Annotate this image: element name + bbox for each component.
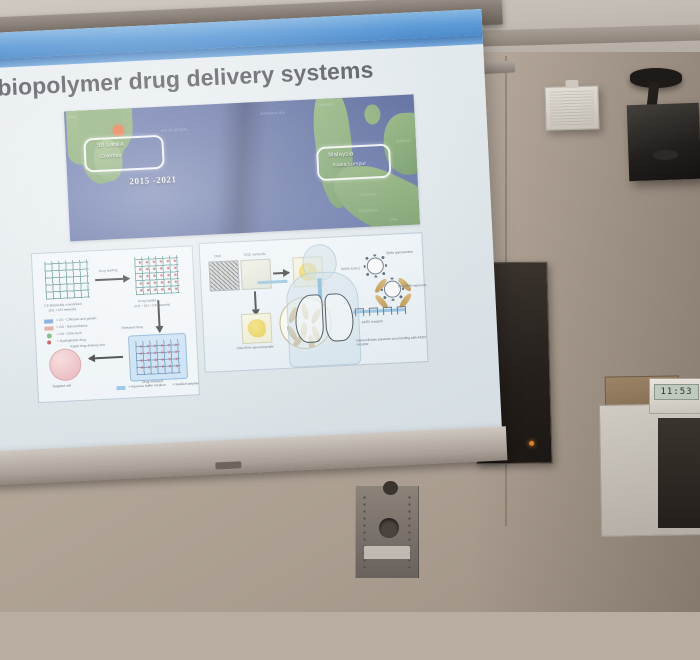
ace2-receptor xyxy=(383,307,392,315)
map-faint-label-thailand: THAILAND xyxy=(318,102,335,107)
cnc-pva-sample xyxy=(241,313,272,344)
arrow-rapid-delivery xyxy=(89,356,123,360)
legend-swatch-cn xyxy=(44,326,53,330)
arrow-cnc-down xyxy=(254,291,257,309)
ceiling-speaker-driver xyxy=(652,150,678,161)
spike-glycoprotein-corona xyxy=(363,254,387,278)
screen-pull-handle[interactable] xyxy=(215,461,241,469)
map-highlight-sri-lanka xyxy=(83,135,165,173)
map-faint-label-borneo: BORNEO xyxy=(396,139,411,144)
hanger-label xyxy=(364,546,410,559)
loaded-drug-dots-1 xyxy=(136,257,178,293)
label-drug-loading: Drug loading xyxy=(99,268,118,273)
human-torso-figure xyxy=(278,242,366,364)
legend-swelled-polymer: = Swelled polymer xyxy=(172,381,199,387)
panel-indicator-led xyxy=(529,441,534,446)
ace2-receptor xyxy=(355,308,364,316)
legend-buffer: = Aqueous buffer medium xyxy=(128,383,166,389)
aqueous-buffer-box xyxy=(128,333,188,382)
hanger-hole xyxy=(379,518,399,538)
map-faint-label-india: INDIA xyxy=(68,115,77,119)
presentation-slide: ds in biopolymer drug delivery systems u… xyxy=(0,9,502,454)
map-faint-label-java: JAVA xyxy=(389,217,397,221)
speaker-grille xyxy=(550,90,595,125)
sars-cov-2-virus xyxy=(366,257,384,275)
caption-targeted-cell: Targeted cell xyxy=(52,383,71,388)
cnc-film xyxy=(240,259,271,290)
caption-cs-cn-ca-network: (CS + CN + CA network) xyxy=(134,303,170,309)
ace2-receptor xyxy=(369,307,378,315)
hanger-knob xyxy=(383,481,398,495)
label-released-drug: Released drug xyxy=(121,325,143,330)
legend-swatch-ca xyxy=(47,333,52,338)
label-nanocellulose-prevents-binding: Nanocellulose prevents virus binding wit… xyxy=(356,335,426,347)
gel-blob-irregular xyxy=(247,319,266,338)
hydrogel-network-1-green xyxy=(44,259,90,299)
figure-cnc-antiviral-schematic: CNC CNC nanorods CNC/PVA nanocomposite xyxy=(198,232,428,373)
screen-surface: ds in biopolymer drug delivery systems u… xyxy=(0,9,502,454)
speaker-mount-bracket xyxy=(565,80,578,88)
equipment-rack-dark-bay xyxy=(658,418,700,528)
ocean-trench xyxy=(213,94,270,241)
legend-swatch-buffer xyxy=(116,386,125,390)
cnc-micrograph xyxy=(208,260,239,291)
label-cnc-pva-nanorods: CNC/PVA nanorods xyxy=(398,283,427,289)
ceiling-speaker xyxy=(627,103,700,181)
lecture-room-photo: 11:53 ds in biopolymer drug delivery sys… xyxy=(0,0,700,660)
caption-cs-cn-network: (CS + CN network) xyxy=(49,307,77,313)
projection-screen[interactable]: ds in biopolymer drug delivery systems u… xyxy=(0,9,503,473)
label-cnc: CNC xyxy=(214,254,221,259)
label-cnc-nanorods: CNC nanorods xyxy=(244,252,266,257)
legend-ca: = CA - Citric Acid xyxy=(57,331,82,336)
label-rapid-delivery: Rapid drug delivery into xyxy=(70,343,105,349)
figure-hydrogel-schematic: Drug loading CS physically crosslinked (… xyxy=(31,245,200,403)
legend-swatch-cs xyxy=(44,319,53,323)
legend-cs: = CS - Chitosan and gelatin xyxy=(56,316,97,322)
map-label-malaysia: Malaysia xyxy=(328,151,354,158)
map-faint-label-sumatra: SUMATRA xyxy=(360,192,377,197)
released-drug-dots xyxy=(137,341,178,373)
map-label-colombo: Colombo xyxy=(100,153,122,160)
target-cell xyxy=(49,348,83,382)
label-spike-glycoprotein: Spike glycoprotein xyxy=(386,250,413,256)
wall-speaker xyxy=(544,85,599,130)
rack-display-value: 11:53 xyxy=(654,384,699,400)
label-ace2-receptor: ACE2 receptor xyxy=(361,319,383,324)
map-figure: INDIA BAY OF BENGAL ANDAMAN SEA THAILAND… xyxy=(64,94,420,241)
legend-cn: = CN - Nanocellulose xyxy=(56,324,87,330)
arrow-drug-loading xyxy=(95,278,129,282)
legend-swatch-drug xyxy=(47,340,51,344)
screen-hanger-bracket xyxy=(355,486,419,578)
lung-left xyxy=(294,294,324,343)
label-cnc-pva-nanocomposite: CNC/PVA nanocomposite xyxy=(237,345,274,351)
ace2-receptor xyxy=(397,306,406,314)
legend-drug: = Hydrophobic drug xyxy=(57,338,86,344)
rack-display[interactable]: 11:53 xyxy=(649,378,700,414)
